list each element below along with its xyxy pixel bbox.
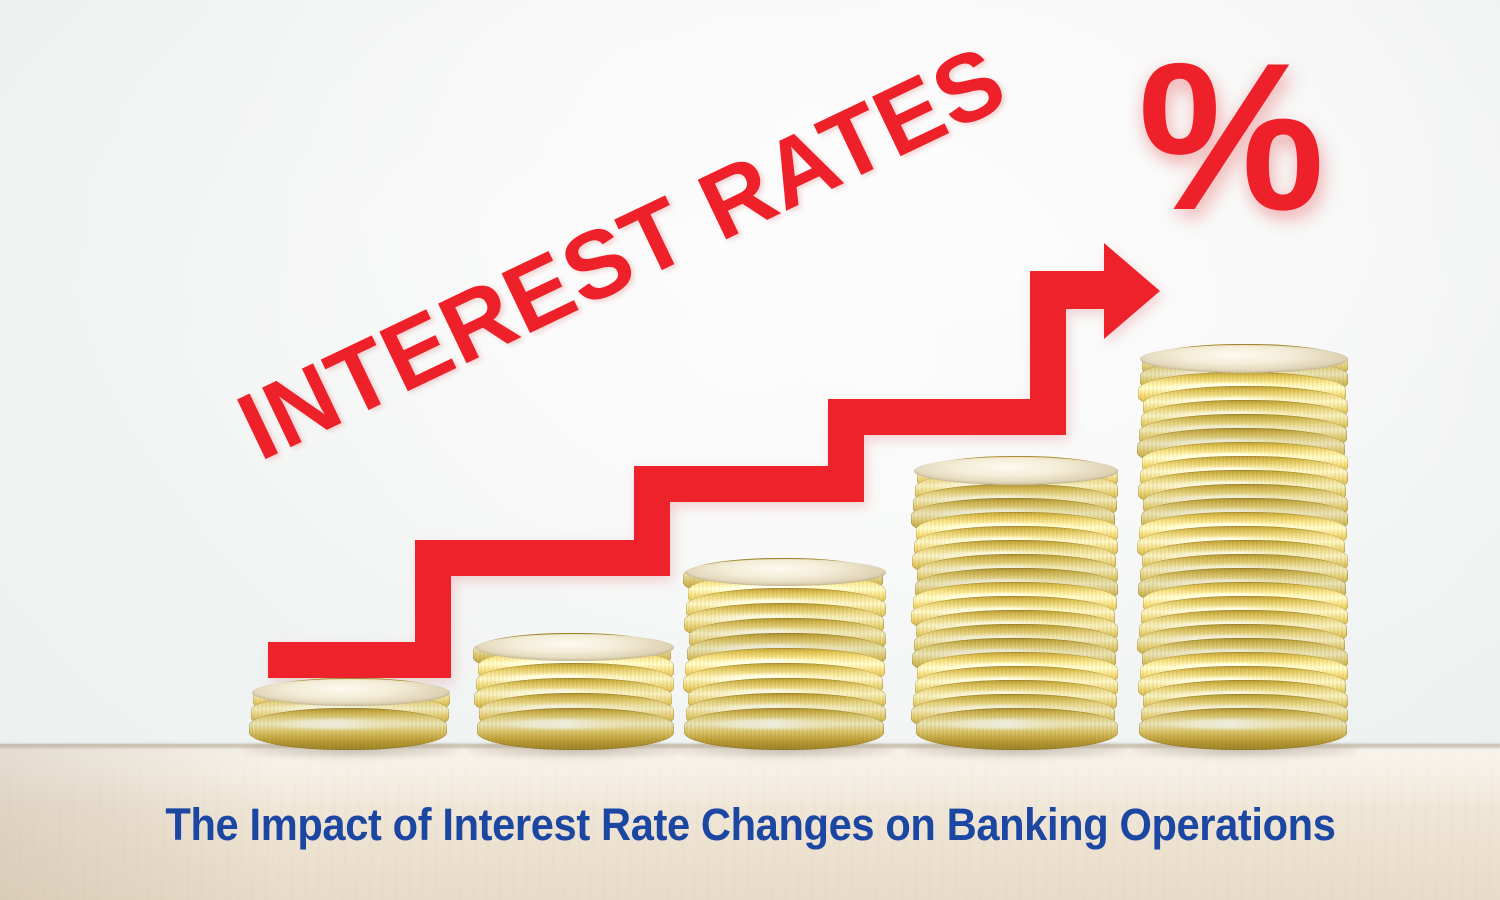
coin: [1139, 708, 1347, 750]
coin-stack-3: [686, 571, 886, 750]
coin-stack-2: [476, 646, 674, 750]
coin-stack-4: [914, 470, 1118, 750]
coin-top-face: [252, 679, 450, 706]
coin-top-face: [1140, 345, 1348, 373]
caption-title: The Impact of Interest Rate Changes on B…: [165, 799, 1335, 851]
coin-stack-5: [1140, 358, 1348, 750]
coin-stack-1: [252, 691, 450, 750]
percent-symbol: %: [1138, 42, 1325, 232]
caption-band: The Impact of Interest Rate Changes on B…: [0, 790, 1500, 860]
coin: [249, 708, 447, 750]
coin-top-face: [476, 634, 674, 661]
image-canvas: INTEREST RATES % The Impact of Interest …: [0, 0, 1500, 900]
coin: [916, 708, 1118, 750]
coin-top-face: [914, 457, 1118, 485]
coin-top-face: [686, 559, 886, 586]
coin: [477, 708, 674, 750]
coin: [684, 708, 884, 750]
